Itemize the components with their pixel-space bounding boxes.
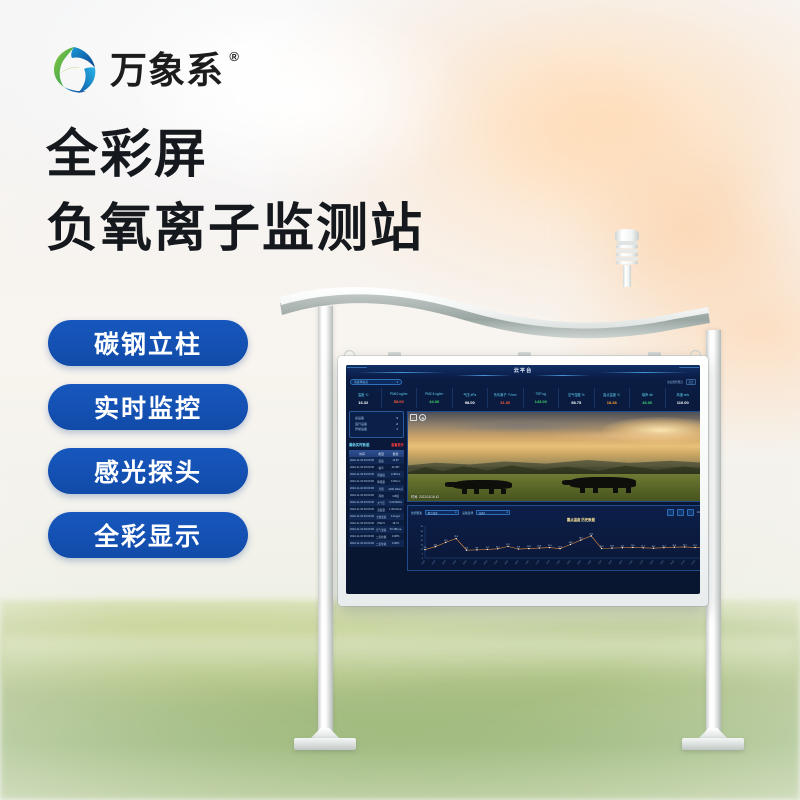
svg-text:12.1: 12.1 <box>683 545 687 547</box>
user-info: 欢迎您管理员 退出 <box>667 379 696 385</box>
metric-label: PM2.5 ug/m³ <box>425 392 443 396</box>
cell-value: 42.387 <box>387 464 404 471</box>
video-overlay-controls: ⤢ ◉ <box>410 414 427 421</box>
cell-type: 空气湿度 <box>375 526 387 533</box>
svg-text:10.1: 10.1 <box>496 546 500 548</box>
svg-text:14.8: 14.8 <box>568 542 572 544</box>
cell-type: 光照 <box>375 485 387 492</box>
cell-value: 0.38m/s <box>387 471 404 478</box>
dashboard: 云平台 请选择站点 ▾ 欢迎您管理员 退出 温度 ℃ 16.32 P <box>346 365 700 594</box>
table-row[interactable]: 2022-11-16 09:00:00 土壤温度 0.4mg/L <box>349 513 404 520</box>
dashboard-header: 云平台 <box>346 365 700 380</box>
svg-text:15:00: 15:00 <box>577 560 581 565</box>
table-header-row: 时间 类型 数值 <box>349 450 404 457</box>
cell-type: 风速度 <box>375 471 387 478</box>
table-row[interactable]: 2022-11-16 09:00:00 大气压 0.0019hPa <box>349 499 404 506</box>
device-stats-box: 总设备 3 运行设备 2 异常设备 1 <box>349 411 404 438</box>
table-row[interactable]: 2022-11-16 09:00:00 风向 118度 <box>349 492 404 499</box>
history-chart-panel: 监测要素 露点温度 ▾ 设备选择 设备1 ▾ <box>407 505 700 571</box>
metric-item: 风速 m/s 110.00 <box>666 388 701 408</box>
site-select[interactable]: 请选择站点 ▾ <box>350 379 402 385</box>
svg-text:20:00: 20:00 <box>629 560 633 565</box>
svg-text:20: 20 <box>420 540 423 542</box>
chevron-down-icon: ▾ <box>507 511 508 514</box>
metric-value: 58.75 <box>571 400 581 405</box>
history-line-chart: 051015202530359.200:0012.401:0017.102:00… <box>411 523 700 567</box>
svg-text:10:00: 10:00 <box>525 560 529 565</box>
cell-value: 0.0019hPa <box>387 499 404 506</box>
cell-time: 2022-11-16 09:00:00 <box>349 533 375 540</box>
svg-text:24.2: 24.2 <box>589 533 593 535</box>
cell-value: 13.87 <box>387 457 404 464</box>
cell-time: 2022-11-16 09:00:00 <box>349 513 375 520</box>
column-header: 时间 <box>349 450 375 457</box>
user-name: 欢迎您管理员 <box>667 380 683 384</box>
cell-type: 风向 <box>375 492 387 499</box>
pole-base-left <box>294 728 356 750</box>
svg-text:25: 25 <box>420 535 423 537</box>
metric-item: TSP ug 143.00 <box>524 388 560 408</box>
svg-text:09:00: 09:00 <box>515 560 519 565</box>
cell-value: 50.386 pa <box>387 526 404 533</box>
svg-text:01:00: 01:00 <box>432 560 436 565</box>
canopy-awning <box>278 283 712 343</box>
svg-text:10: 10 <box>420 549 423 551</box>
metric-value: 16.32 <box>358 400 368 405</box>
svg-text:00:00: 00:00 <box>421 560 425 565</box>
realtime-table-title: 最新实时数据 <box>349 442 369 447</box>
cell-value: 0.08% <box>387 533 404 540</box>
cell-time: 2022-11-16 09:00:00 <box>349 499 375 506</box>
metric-label: 露点温度 ℃ <box>603 392 620 397</box>
svg-text:10.3: 10.3 <box>527 546 531 548</box>
metric-item: PM2.5 ug/m³ 44.00 <box>417 388 453 408</box>
metric-item: 温度 ℃ 16.32 <box>346 388 382 408</box>
svg-text:23:00: 23:00 <box>660 560 664 565</box>
cell-time: 2022-11-16 09:00:00 <box>349 485 375 492</box>
cell-time: 2022-11-16 09:00:00 <box>349 457 375 464</box>
cell-value: 1.00m0mm <box>387 506 404 513</box>
metric-value: 98.00 <box>465 400 475 405</box>
view-more-link[interactable]: 查看更多 <box>391 442 404 447</box>
field-filter-label: 监测要素 <box>411 511 422 515</box>
svg-text:21:00: 21:00 <box>639 560 643 565</box>
svg-text:04:00: 04:00 <box>463 560 467 565</box>
metric-item: PM10 ug/m³ 58.00 <box>382 388 418 408</box>
table-row[interactable]: 2022-11-16 09:00:00 蒸发量 1.00m0mm <box>349 506 404 513</box>
monitoring-station: 云平台 请选择站点 ▾ 欢迎您管理员 退出 温度 ℃ 16.32 P <box>0 0 800 800</box>
snapshot-icon[interactable]: ◉ <box>419 414 426 421</box>
svg-text:8.6: 8.6 <box>465 548 468 550</box>
svg-text:16:00: 16:00 <box>587 560 591 565</box>
svg-text:22:00: 22:00 <box>650 560 654 565</box>
svg-text:17:00: 17:00 <box>598 560 602 565</box>
metric-value: 58.00 <box>394 399 404 404</box>
metric-label: 空气湿度 % <box>568 392 584 397</box>
metric-value: 31.00 <box>500 400 510 405</box>
cell-type: 噪声 <box>375 464 387 471</box>
support-pole-left <box>318 306 333 736</box>
svg-text:11.3: 11.3 <box>662 545 666 547</box>
device-filter-value: 设备1 <box>479 511 485 515</box>
table-row[interactable]: 2022-11-16 09:00:00 风速度 0.38m/s <box>349 471 404 478</box>
dashboard-title: 云平台 <box>346 367 700 374</box>
svg-text:11.6: 11.6 <box>631 545 635 547</box>
cell-value: 0.08% <box>387 540 404 547</box>
svg-text:11.1: 11.1 <box>641 545 645 547</box>
chart-toolbar: 监测要素 露点温度 ▾ 设备选择 设备1 ▾ <box>411 509 700 516</box>
cell-value: 4190.18w/㎡ <box>387 485 404 492</box>
realtime-table-header: 最新实时数据 查看更多 <box>349 442 404 447</box>
svg-text:12:00: 12:00 <box>546 560 550 565</box>
led-display-screen: 云平台 请选择站点 ▾ 欢迎您管理员 退出 温度 ℃ 16.32 P <box>338 356 708 606</box>
svg-text:10.4: 10.4 <box>600 546 604 548</box>
logout-button[interactable]: 退出 <box>686 379 696 385</box>
site-select-value: 请选择站点 <box>354 380 368 384</box>
table-row[interactable]: 2022-11-16 09:00:00 空气湿度 50.386 pa <box>349 526 404 533</box>
cell-time: 2022-11-16 09:00:00 <box>349 526 375 533</box>
cell-time: 2022-11-16 09:00:00 <box>349 492 375 499</box>
svg-text:8.9: 8.9 <box>475 547 478 549</box>
left-panel: 总设备 3 运行设备 2 异常设备 1 <box>349 411 404 571</box>
table-row[interactable]: 2022-11-16 09:00:00 温度 13.87 <box>349 457 404 464</box>
svg-text:30: 30 <box>420 531 423 533</box>
svg-text:07:00: 07:00 <box>494 560 498 565</box>
cell-value: 0.4mg/L <box>387 513 404 520</box>
svg-text:06:00: 06:00 <box>484 560 488 565</box>
metric-label: 噪声 db <box>642 392 653 397</box>
cell-type: 蒸发量 <box>375 506 387 513</box>
metric-item: 露点温度 ℃ 18.38 <box>595 388 631 408</box>
realtime-data-table: 时间 类型 数值 2022-11-16 09:00:00 温度 13.87 <box>349 450 404 547</box>
svg-text:12.4: 12.4 <box>433 544 437 546</box>
cell-type: 温度 <box>375 457 387 464</box>
svg-text:9.4: 9.4 <box>486 547 489 549</box>
metric-item: 负氧离子 个/cm³ 31.00 <box>488 388 524 408</box>
svg-text:18:00: 18:00 <box>608 560 612 565</box>
svg-text:05:00: 05:00 <box>473 560 477 565</box>
cell-time: 2022-11-16 09:00:00 <box>349 478 375 485</box>
ultrasonic-weather-sensor-icon <box>604 226 650 288</box>
svg-text:10.9: 10.9 <box>537 546 541 548</box>
svg-text:10.7: 10.7 <box>652 546 656 548</box>
center-panel: ⤢ ◉ 时间: 2022/11/16 42 山东 潍坊 监测要素 露点温度 <box>407 411 700 571</box>
metric-value: 46.00 <box>642 400 652 405</box>
pole-base-right <box>682 728 744 750</box>
metric-item: 噪声 db 46.00 <box>630 388 666 408</box>
field-filter-select[interactable]: 露点温度 ▾ <box>425 510 459 516</box>
svg-text:13:00: 13:00 <box>556 560 560 565</box>
video-grass <box>408 474 700 501</box>
metric-label: 负氧离子 个/cm³ <box>494 392 517 397</box>
device-filter-label: 设备选择 <box>462 511 473 515</box>
camera-feed[interactable]: ⤢ ◉ 时间: 2022/11/16 42 山东 潍坊 <box>407 411 700 502</box>
svg-text:10.2: 10.2 <box>558 546 562 548</box>
svg-text:10.8: 10.8 <box>610 546 614 548</box>
cell-type: 二氧化硫 <box>375 540 387 547</box>
metric-strip: 温度 ℃ 16.32 PM10 ug/m³ 58.00 PM2.5 ug/m³ … <box>346 388 700 408</box>
table-row[interactable]: 2022-11-16 09:00:00 噪声 42.387 <box>349 464 404 471</box>
metric-label: 风速 m/s <box>677 392 689 397</box>
metric-item: 空气湿度 % 58.75 <box>559 388 595 408</box>
metric-value: 44.00 <box>429 399 439 404</box>
svg-text:5: 5 <box>422 554 424 556</box>
video-timestamp: 时间: 2022/11/16 42 <box>411 494 439 499</box>
chart-title: 露点温度 历史数据 <box>411 517 700 522</box>
svg-text:21.3: 21.3 <box>454 536 458 538</box>
chevron-down-icon: ▾ <box>455 511 456 514</box>
svg-text:19.6: 19.6 <box>579 538 583 540</box>
cell-time: 2022-11-16 09:00:00 <box>349 506 375 513</box>
date-from-field[interactable]: 2022-11-16 00:00 <box>697 511 700 514</box>
product-poster: 万象系 ® 全彩屏 负氧离子监测站 碳钢立柱 实时监控 感光探头 全彩显示 <box>0 0 800 800</box>
svg-text:9.2: 9.2 <box>424 547 427 549</box>
metric-item: 气压 kPa 98.00 <box>453 388 489 408</box>
table-row[interactable]: 2022-11-16 09:00:00 二氧化硫 0.08% <box>349 540 404 547</box>
svg-text:11.8: 11.8 <box>672 545 676 547</box>
table-view-icon[interactable] <box>667 509 674 516</box>
support-pole-right <box>706 330 721 736</box>
cell-type: 降雨量 <box>375 478 387 485</box>
stat-row: 异常设备 1 <box>355 427 398 433</box>
column-header: 数值 <box>387 450 404 457</box>
cell-type: 二氧化碳 <box>375 533 387 540</box>
metric-value: 110.00 <box>677 400 689 405</box>
metric-label: 温度 ℃ <box>358 392 369 397</box>
svg-text:11.2: 11.2 <box>620 545 624 547</box>
cell-time: 2022-11-16 09:00:00 <box>349 471 375 478</box>
device-filter-select[interactable]: 设备1 ▾ <box>476 510 510 516</box>
svg-text:12.7: 12.7 <box>506 544 510 546</box>
svg-text:08:00: 08:00 <box>504 560 508 565</box>
svg-text:11:00: 11:00 <box>536 560 540 565</box>
svg-text:11.5: 11.5 <box>693 545 697 547</box>
svg-text:02:00: 02:00 <box>442 560 446 565</box>
svg-text:01:30: 01:30 <box>681 560 685 565</box>
column-header: 类型 <box>375 450 387 457</box>
svg-text:9.8: 9.8 <box>517 547 520 549</box>
cell-value: 118度 <box>387 492 404 499</box>
cell-type: 大气压 <box>375 499 387 506</box>
svg-text:15: 15 <box>420 544 423 546</box>
video-cow <box>453 480 512 490</box>
svg-text:19:00: 19:00 <box>619 560 623 565</box>
stat-value: 1 <box>396 427 398 433</box>
svg-text:02:30: 02:30 <box>691 560 695 565</box>
cell-value: 0.00mm <box>387 478 404 485</box>
metric-value: 143.00 <box>535 399 547 404</box>
cell-type: 土壤温度 <box>375 513 387 520</box>
dashboard-body: 总设备 3 运行设备 2 异常设备 1 <box>346 408 700 574</box>
metric-label: PM10 ug/m³ <box>390 392 407 396</box>
svg-text:11.4: 11.4 <box>548 545 552 547</box>
metric-label: TSP ug <box>535 392 546 396</box>
cell-time: 2022-11-16 09:00:00 <box>349 540 375 547</box>
export-icon[interactable] <box>687 509 694 516</box>
chart-view-icon[interactable] <box>677 509 684 516</box>
svg-text:35: 35 <box>420 526 423 528</box>
svg-text:14:00: 14:00 <box>567 560 571 565</box>
svg-text:00:30: 00:30 <box>671 560 675 565</box>
metric-label: 气压 kPa <box>463 392 476 397</box>
metric-value: 18.38 <box>607 400 617 405</box>
field-filter-value: 露点温度 <box>428 511 438 515</box>
stat-label: 异常设备 <box>355 427 367 433</box>
svg-text:17.1: 17.1 <box>444 540 448 542</box>
table-row[interactable]: 2022-11-16 09:00:00 光照 4190.18w/㎡ <box>349 485 404 492</box>
svg-text:03:00: 03:00 <box>452 560 456 565</box>
table-row[interactable]: 2022-11-16 09:00:00 降雨量 0.00mm <box>349 478 404 485</box>
expand-icon[interactable]: ⤢ <box>410 414 417 421</box>
table-row[interactable]: 2022-11-16 09:00:00 二氧化碳 0.08% <box>349 533 404 540</box>
chevron-down-icon: ▾ <box>397 380 398 384</box>
cell-time: 2022-11-16 09:00:00 <box>349 464 375 471</box>
table-body: 2022-11-16 09:00:00 温度 13.87 2022-11-16 … <box>349 457 404 547</box>
video-cow <box>570 477 636 488</box>
